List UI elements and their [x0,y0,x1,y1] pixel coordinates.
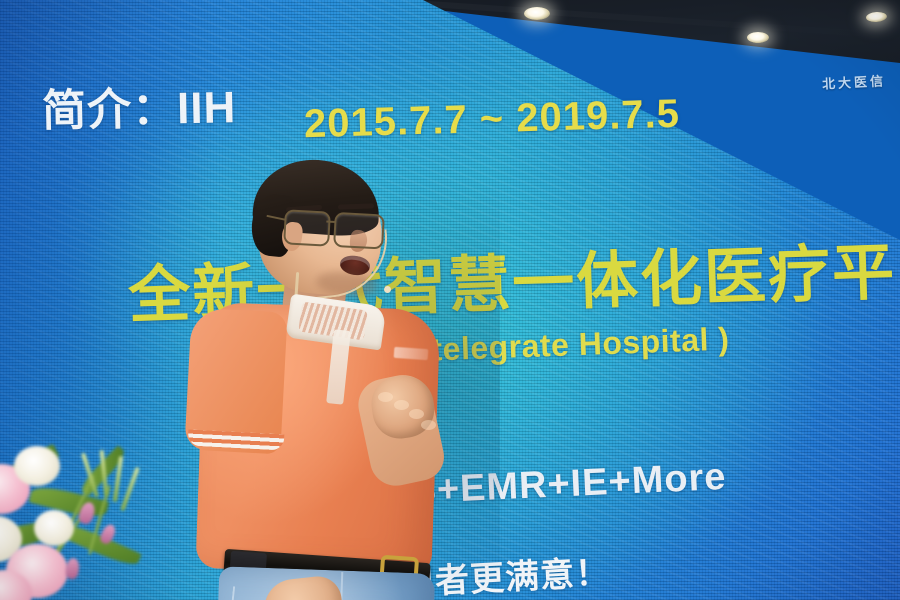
flower-bloom [34,510,74,546]
presentation-photo: 简介：IIH 2015.7.7 ~ 2019.7.5 全新一代智慧一体化医疗平台… [0,0,900,600]
glasses-bridge [326,220,335,222]
flower-bouquet [0,440,220,600]
speaker-figure [188,160,488,600]
knuckle [421,420,436,430]
slide-date-range: 2015.7.7 ~ 2019.7.5 [303,92,680,147]
mic-capsule [384,286,391,293]
foliage-spike [120,467,139,512]
knuckle [409,409,424,419]
knuckle [378,392,393,402]
headset-mic-icon [293,229,393,300]
flower-bloom [14,446,60,486]
brand-logo: 北大医信 [822,70,887,92]
shirt-embroidery [394,347,429,360]
knuckle [394,400,409,410]
flower-bud [65,557,81,580]
slide-heading: 简介：IIH [41,71,236,139]
